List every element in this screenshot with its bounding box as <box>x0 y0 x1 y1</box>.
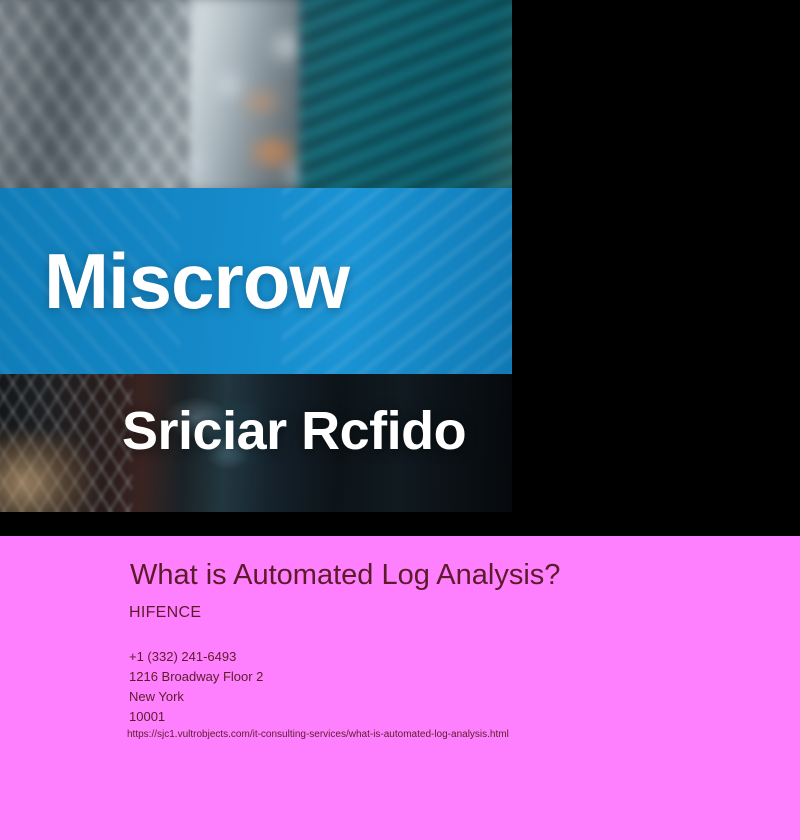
warm-light-bokeh-decoration <box>0 434 96 512</box>
brand-band: Miscrow <box>0 188 512 374</box>
page-title: What is Automated Log Analysis? <box>130 560 560 592</box>
organization-name: HIFENCE <box>129 604 201 622</box>
content-area: What is Automated Log Analysis? HIFENCE … <box>0 536 800 840</box>
source-url-link[interactable]: https://sjc1.vultrobjects.com/it-consult… <box>127 729 509 740</box>
contact-block: +1 (332) 241-6493 1216 Broadway Floor 2 … <box>129 647 263 727</box>
facade-lattice-decoration <box>0 0 190 200</box>
contact-zipcode: 10001 <box>129 707 263 727</box>
brand-title: Miscrow <box>44 242 349 320</box>
contact-city: New York <box>129 687 263 707</box>
contact-street: 1216 Broadway Floor 2 <box>129 667 263 687</box>
hero-subtitle: Sriciar Rcfido <box>122 404 466 458</box>
contact-phone: +1 (332) 241-6493 <box>129 647 263 667</box>
hero-image: Miscrow Sriciar Rcfido <box>0 0 512 512</box>
hero-banner: Miscrow Sriciar Rcfido <box>0 0 800 536</box>
teal-building-louvers-decoration <box>300 0 512 201</box>
